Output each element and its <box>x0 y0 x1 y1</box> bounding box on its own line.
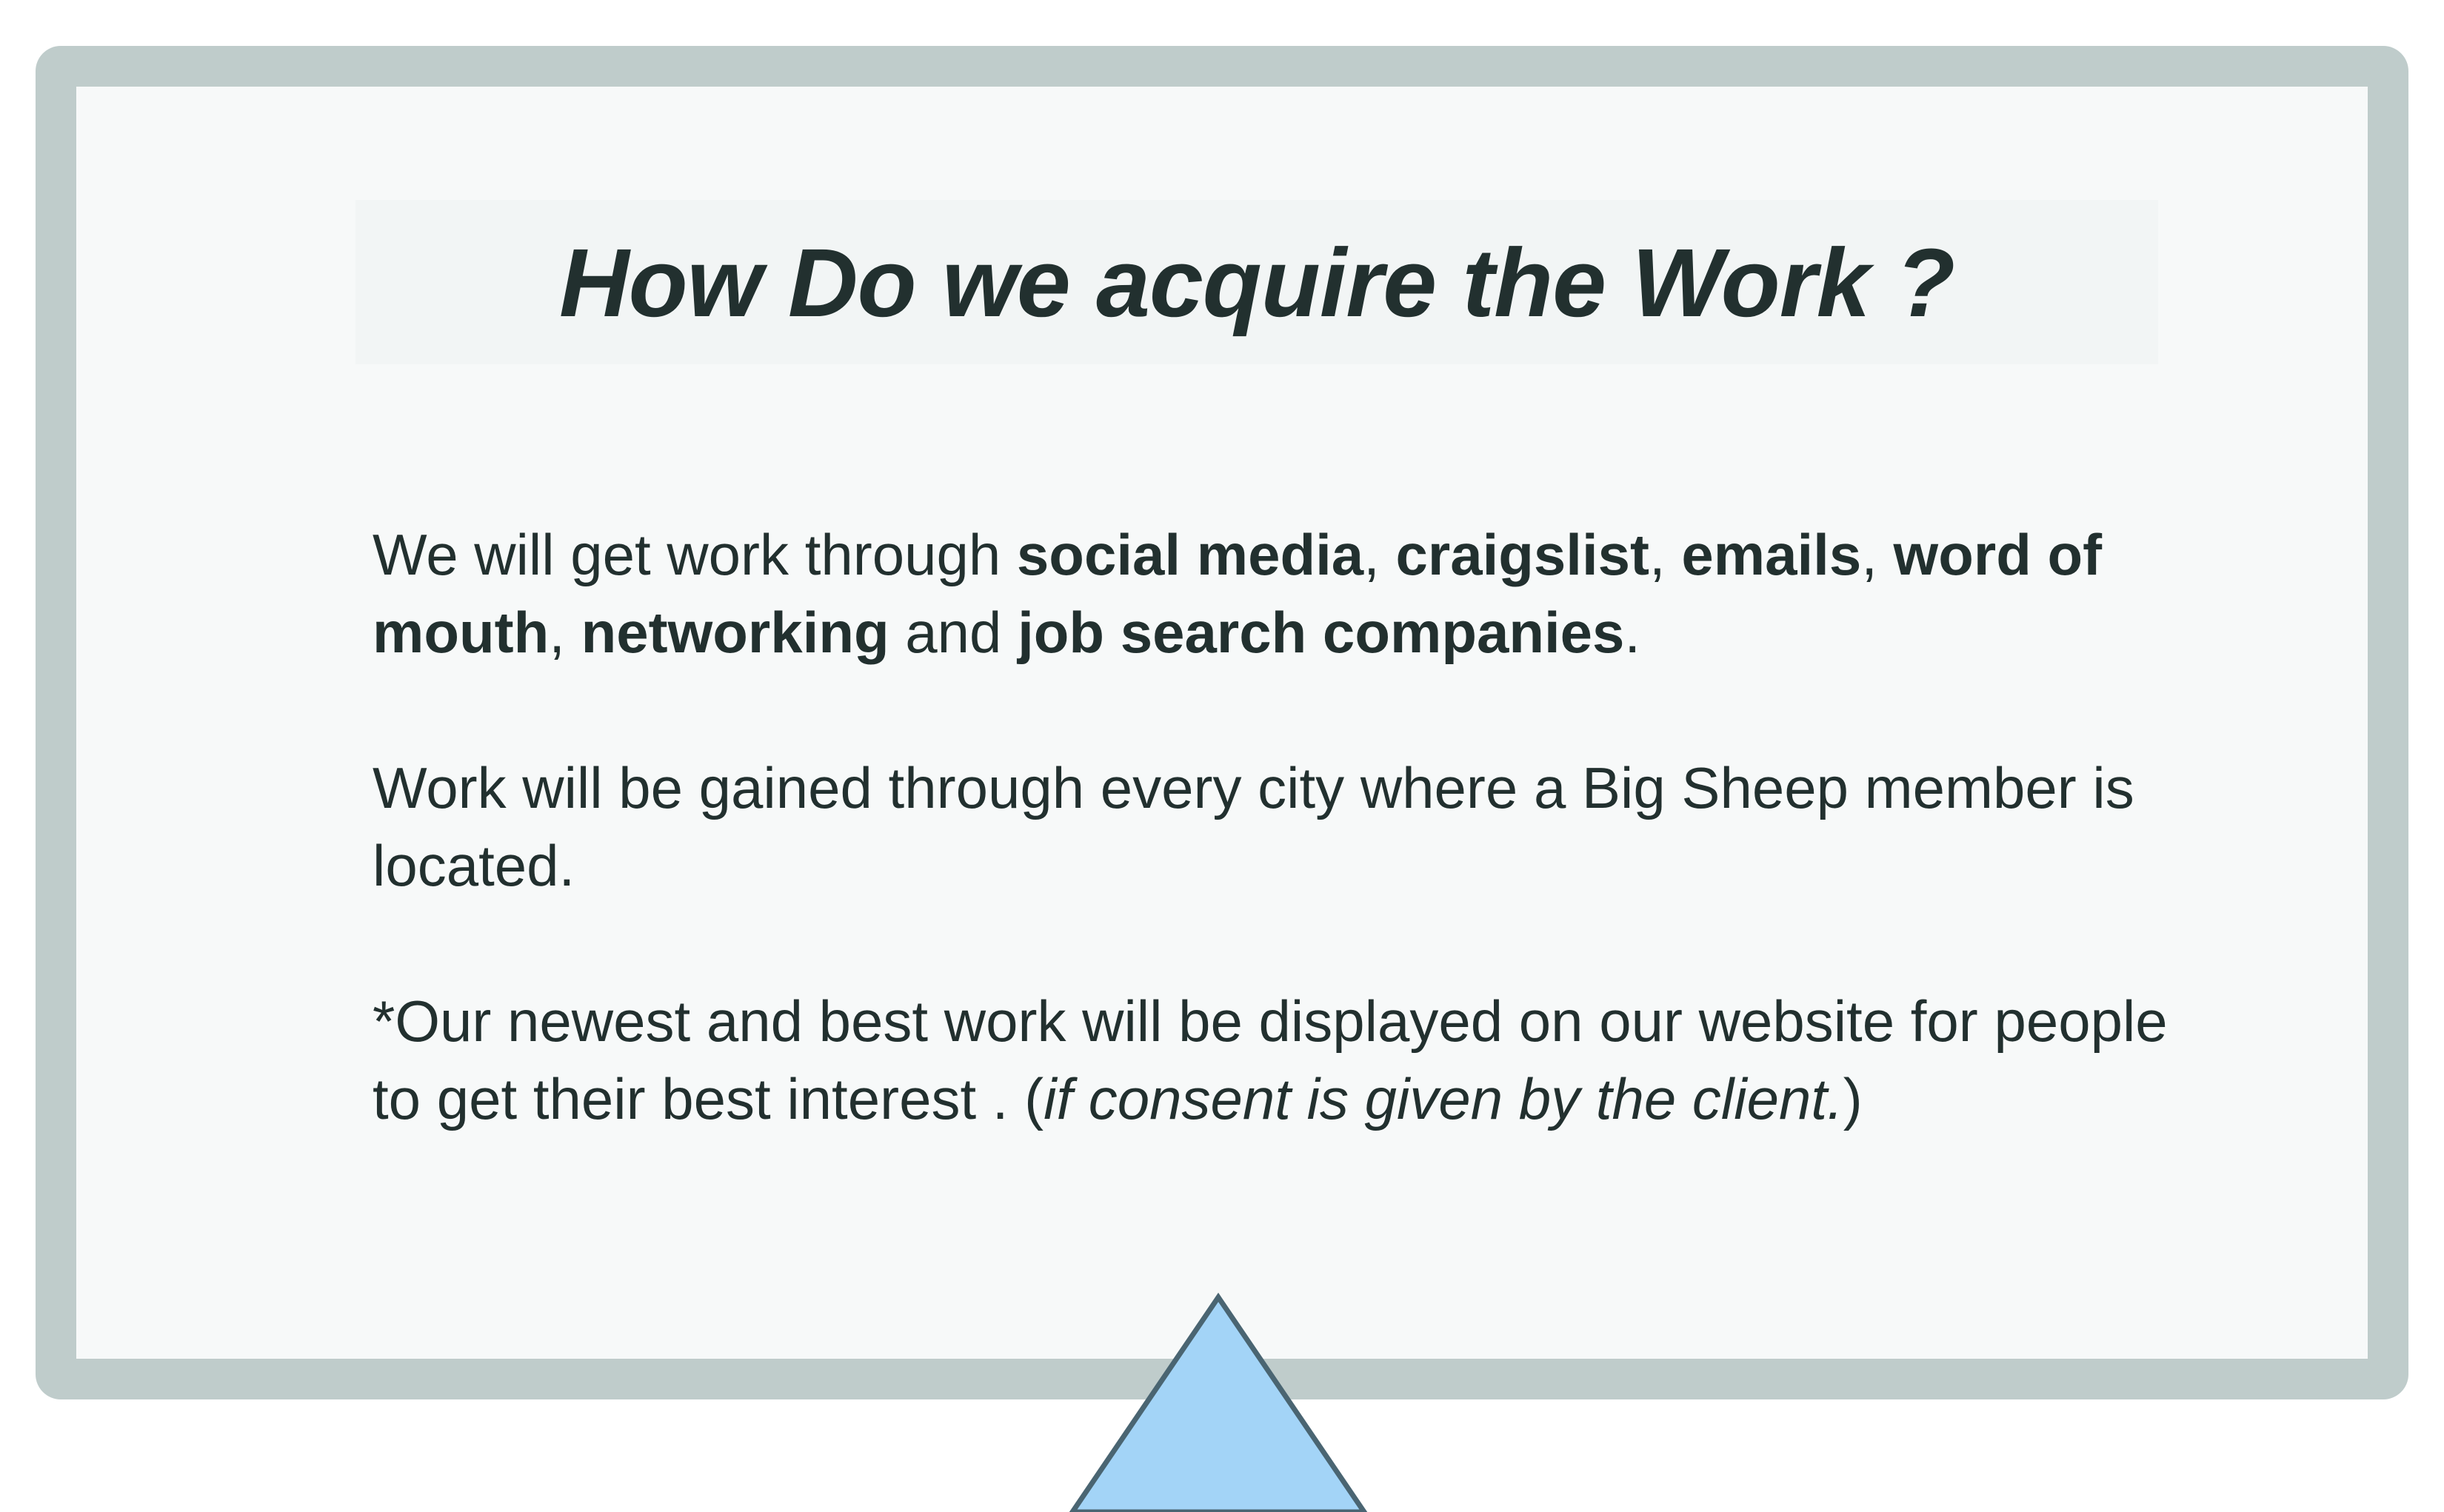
text-run: emails <box>1681 522 1861 587</box>
text-run: social media <box>1017 522 1363 587</box>
text-run: ) <box>1843 1066 1863 1131</box>
slide-surface: How Do we acquire the Work ? We will get… <box>76 87 2368 1359</box>
text-run: We will get work through <box>373 522 1017 587</box>
slide-body: We will get work through social media, c… <box>373 516 2187 1138</box>
text-run: Work will be gained through every city w… <box>373 755 2134 898</box>
text-run: , <box>1363 522 1395 587</box>
text-run: job search companies <box>1018 600 1624 665</box>
body-paragraph-3: *Our newest and best work will be displa… <box>373 983 2187 1138</box>
body-paragraph-1: We will get work through social media, c… <box>373 516 2187 672</box>
text-run: , <box>1861 522 1893 587</box>
body-paragraph-2: Work will be gained through every city w… <box>373 749 2187 905</box>
page-title: How Do we acquire the Work ? <box>559 234 1954 331</box>
text-run: networking <box>581 600 889 665</box>
text-run: , <box>1649 522 1681 587</box>
title-band: How Do we acquire the Work ? <box>355 200 2158 364</box>
text-run: and <box>889 600 1018 665</box>
slide-frame: How Do we acquire the Work ? We will get… <box>36 46 2408 1399</box>
text-run: , <box>549 600 581 665</box>
text-run: if consent is given by the client. <box>1044 1066 1843 1131</box>
text-run: craigslist <box>1396 522 1650 587</box>
text-run: . <box>1624 600 1640 665</box>
